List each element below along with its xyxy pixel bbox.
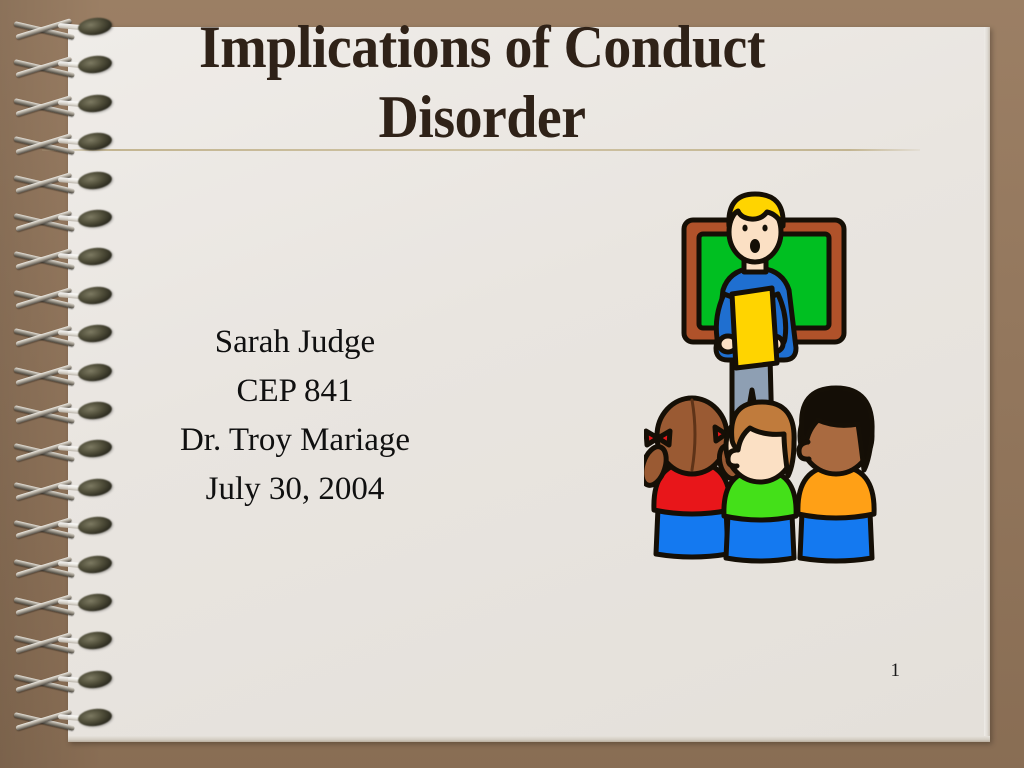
spiral-wire-front bbox=[15, 325, 72, 347]
spiral-wire-front bbox=[15, 671, 72, 693]
slide-canvas: Implications of Conduct Disorder Sarah J… bbox=[0, 0, 1024, 768]
spiral-wire-front bbox=[15, 249, 72, 271]
spiral-wire-front bbox=[15, 172, 72, 194]
page-edge-right bbox=[984, 27, 990, 742]
spiral-wire-front bbox=[15, 441, 72, 463]
byline-block: Sarah Judge CEP 841 Dr. Troy Mariage Jul… bbox=[110, 318, 480, 514]
teacher-mouth bbox=[750, 239, 760, 253]
spiral-wire-back bbox=[13, 328, 75, 347]
spiral-wire-front bbox=[15, 402, 72, 424]
spiral-wire-front bbox=[15, 479, 72, 501]
title-line-2: Disorder bbox=[73, 82, 891, 152]
spiral-wire-front bbox=[15, 210, 72, 232]
spiral-wire-back bbox=[13, 405, 75, 424]
byline-instructor: Dr. Troy Mariage bbox=[110, 416, 480, 465]
student-boy2-ear bbox=[799, 442, 809, 459]
page-edge-bottom bbox=[68, 736, 990, 742]
spiral-wire-back bbox=[13, 520, 75, 539]
byline-author: Sarah Judge bbox=[110, 318, 480, 367]
spiral-wire-back bbox=[13, 635, 75, 654]
spiral-wire-front bbox=[15, 517, 72, 539]
spiral-wire-back bbox=[13, 175, 75, 194]
spiral-wire-back bbox=[13, 674, 75, 693]
spiral-wire-back bbox=[13, 712, 75, 731]
spiral-wire-back bbox=[13, 559, 75, 578]
teacher-paper bbox=[732, 288, 777, 368]
spiral-wire-back bbox=[13, 59, 75, 78]
spiral-wire-front bbox=[15, 18, 72, 40]
spiral-wire-front bbox=[15, 133, 72, 155]
spiral-wire-front bbox=[15, 633, 72, 655]
spiral-wire-front bbox=[15, 364, 72, 386]
spiral-wire-front bbox=[15, 594, 72, 616]
spiral-wire-back bbox=[13, 21, 75, 40]
title-divider bbox=[42, 149, 920, 151]
spiral-wire-front bbox=[15, 287, 72, 309]
page-title: Implications of Conduct Disorder bbox=[73, 12, 891, 152]
byline-date: July 30, 2004 bbox=[110, 465, 480, 514]
spiral-wire-back bbox=[13, 290, 75, 309]
byline-course: CEP 841 bbox=[110, 367, 480, 416]
page-number: 1 bbox=[850, 660, 900, 682]
spiral-wire-back bbox=[13, 367, 75, 386]
spiral-wire-back bbox=[13, 136, 75, 155]
spiral-wire-back bbox=[13, 98, 75, 117]
classroom-illustration bbox=[644, 178, 888, 574]
spiral-wire-back bbox=[13, 251, 75, 270]
teacher-eye-right bbox=[762, 225, 767, 232]
spiral-wire-back bbox=[13, 597, 75, 616]
spiral-wire-front bbox=[15, 709, 72, 731]
spiral-wire-front bbox=[15, 95, 72, 117]
classroom-clipart bbox=[644, 178, 888, 574]
spiral-wire-front bbox=[15, 57, 72, 79]
spiral-wire-front bbox=[15, 556, 72, 578]
spiral-wire-back bbox=[13, 482, 75, 501]
teacher-eye-left bbox=[742, 225, 747, 232]
title-line-1: Implications of Conduct bbox=[73, 12, 891, 82]
spiral-wire-back bbox=[13, 213, 75, 232]
spiral-wire-back bbox=[13, 443, 75, 462]
student-boy1-ear bbox=[728, 450, 737, 466]
